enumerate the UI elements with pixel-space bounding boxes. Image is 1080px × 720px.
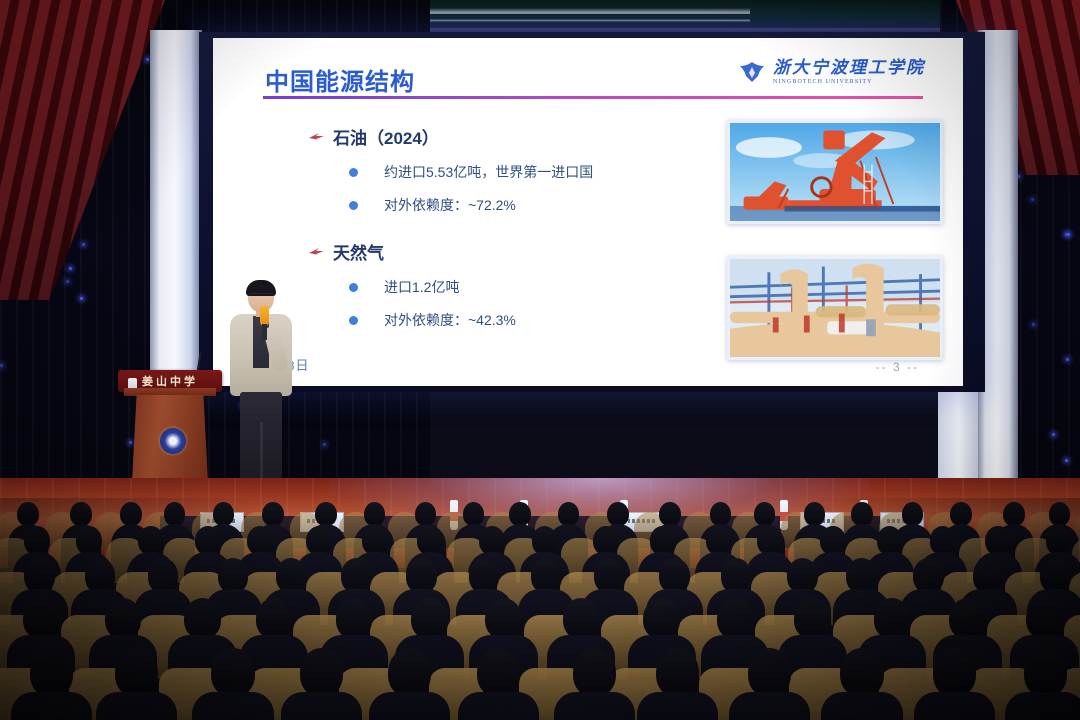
university-logo: 浙大宁波理工学院 NINGBOTECH UNIVERSITY: [737, 52, 949, 92]
bullet-text: 约进口5.53亿吨，世界第一进口国: [384, 162, 593, 182]
slide-title: 中国能源结构: [265, 62, 415, 97]
microphone-handle: [262, 324, 267, 340]
led-star: [323, 443, 326, 446]
logo-text-en: NINGBOTECH UNIVERSITY: [773, 79, 925, 85]
slide-section-oil: 石油（2024） 约进口5.53亿吨，世界第一进口国 对外依赖度：~72.2%: [309, 124, 593, 215]
led-star: [80, 297, 83, 300]
phoenix-logo-icon: [737, 59, 767, 85]
led-star: [66, 280, 69, 283]
section-heading: 石油（2024）: [333, 124, 439, 149]
led-star: [1066, 358, 1069, 361]
bullet-row: 对外依赖度：~42.3%: [349, 310, 516, 330]
section-heading-row: 石油（2024）: [309, 124, 593, 149]
trouser-shadow: [260, 422, 263, 482]
bullet-dot-icon: [349, 201, 358, 210]
bullet-text: 对外依赖度：~72.2%: [384, 195, 516, 215]
audience-seating: [0, 498, 1080, 720]
podium: 姜山中学: [118, 370, 222, 482]
logo-text-cn: 浙大宁波理工学院: [773, 59, 925, 76]
bullet-dot-icon: [349, 316, 358, 325]
bullet-dot-icon: [349, 283, 358, 292]
led-star: [0, 364, 3, 367]
bullet-row: 约进口5.53亿吨，世界第一进口国: [349, 162, 593, 182]
title-underline: [263, 96, 923, 99]
bullet-row: 对外依赖度：~72.2%: [349, 195, 593, 215]
led-star: [1065, 459, 1068, 462]
bullet-row: 进口1.2亿吨: [349, 277, 516, 297]
led-star: [1052, 433, 1055, 436]
led-star: [1032, 323, 1035, 326]
speaker-glasses: [249, 293, 273, 298]
handheld-microphone-icon: [260, 306, 269, 326]
led-star: [1067, 233, 1070, 236]
gas-pipeline-photo: [727, 256, 943, 360]
led-star: [82, 243, 85, 246]
led-star: [146, 58, 149, 61]
led-star: [69, 267, 72, 270]
arrow-bullet-icon: [309, 246, 324, 257]
bullet-text: 对外依赖度：~42.3%: [384, 310, 516, 330]
section-heading: 天然气: [333, 239, 384, 264]
section-heading-row: 天然气: [309, 239, 516, 264]
arrow-bullet-icon: [309, 131, 324, 142]
audience-shadow-overlay: [0, 498, 1080, 720]
podium-sign-text: 姜山中学: [142, 373, 198, 389]
oil-drilling-rig-photo: [727, 120, 943, 224]
podium-top: [124, 388, 216, 396]
slide-section-gas: 天然气 进口1.2亿吨 对外依赖度：~42.3%: [309, 239, 516, 330]
led-star: [1031, 198, 1034, 201]
slide-page-number: -- 3 --: [876, 360, 919, 374]
presentation-slide: 中国能源结构 浙大宁波理工学院 NINGBOTECH UNIVERSITY 石油…: [213, 38, 963, 386]
bullet-dot-icon: [349, 168, 358, 177]
bullet-text: 进口1.2亿吨: [384, 277, 459, 297]
school-emblem-icon: [160, 428, 186, 454]
auditorium-scene: 中国能源结构 浙大宁波理工学院 NINGBOTECH UNIVERSITY 石油…: [0, 0, 1080, 720]
speaker-person: [228, 282, 294, 482]
